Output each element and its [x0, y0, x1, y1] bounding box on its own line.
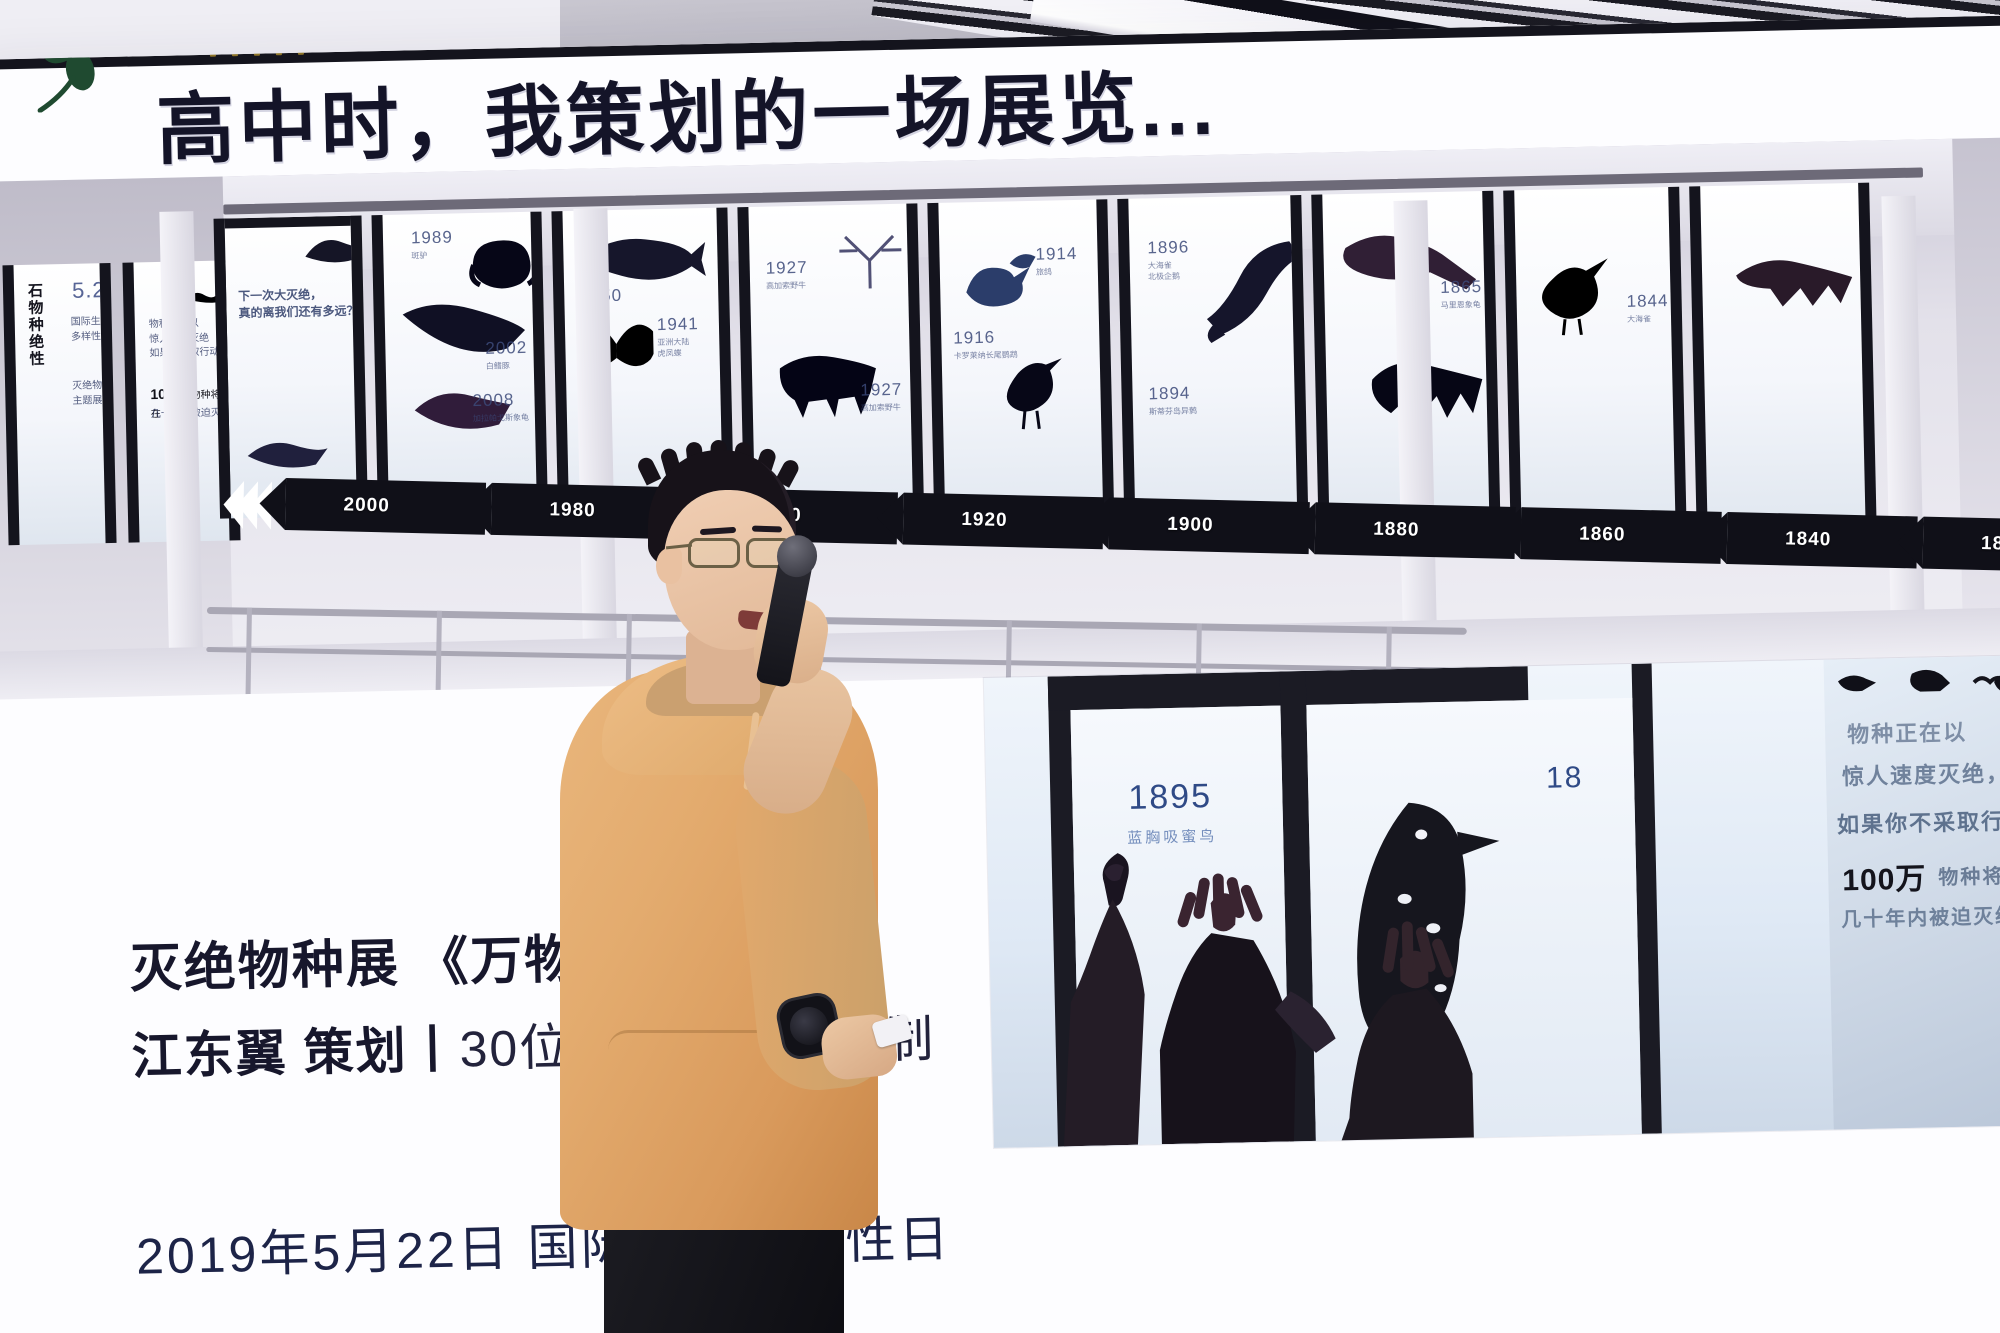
inset-photo: 1895 蓝胸吸蜜鸟 18: [984, 654, 2000, 1148]
exhibit-panel-6: 1896大海雀北极企鹅 1894斯蒂芬岛异鹩: [1117, 195, 1308, 539]
timeline-year: 1820: [1981, 533, 2000, 556]
screenshot-root: 高中时，我策划的一场展览... 石物种绝性 5.22 国际生物多样性日 灭绝物种…: [0, 0, 2000, 1333]
visitor-silhouette-right: [1319, 916, 1554, 1148]
exhibit-panel-2: 1989斑驴 2002白鳍豚 2008加拉帕戈斯象龟: [371, 212, 548, 526]
exhibition-photo: 石物种绝性 5.22 国际生物多样性日 灭绝物种主题展览 物种正在以惊人速度灭绝…: [0, 137, 2000, 702]
message-line-1: 物种正在以: [1847, 715, 1968, 750]
animal-illustration-icon: [243, 426, 330, 474]
glasses-lens-left: [688, 538, 740, 568]
message-line-4-tail: 物种将在: [1938, 859, 2000, 890]
timeline-year: 1900: [1167, 514, 1214, 537]
panel-year-1914: 1914旅鸽: [1035, 244, 1078, 278]
message-line-2: 惊人速度灭绝，: [1842, 756, 2000, 792]
speaker-figure: [560, 430, 890, 1333]
inset-second-year-label: 18: [1546, 761, 1584, 796]
panel-year-2002: 2002白鳍豚: [485, 338, 528, 372]
exhibit-panel-8: 1844大海雀: [1503, 187, 1687, 541]
panel-body-text: 国际生物多样性日: [71, 315, 117, 345]
caption-line-2-bold: 江东翼 策划丨: [131, 1022, 460, 1085]
message-line-5: 几十年内被迫灭绝: [1841, 900, 2000, 933]
message-line-3: 如果你不采取行动，: [1837, 803, 2000, 840]
timeline-segment: 1860: [1521, 507, 1722, 564]
panel-question-text: 下一次大灭绝，真的离我们还有多远？: [238, 286, 359, 323]
panel-year-1927-b: 1927高加索野牛: [860, 380, 903, 414]
message-100wan-highlight: 100万: [1842, 854, 1927, 900]
timeline-segment: 1820: [1922, 517, 2000, 573]
poster-panel-left-a: 石物种绝性 5.22 国际生物多样性日 灭绝物种主题展览: [2, 263, 116, 545]
antler-illustration-icon: [823, 225, 918, 293]
wading-bird-illustration-icon: [988, 346, 1074, 432]
panel-year-1927: 1927高加索野牛: [766, 258, 809, 292]
timeline-year: 2000: [343, 494, 390, 517]
inset-year-label: 1895: [1128, 777, 1212, 818]
exhibit-panel-9: [1689, 183, 1877, 541]
panel-year-1865: 1865马里恩象龟: [1440, 277, 1483, 311]
timeline-year: 1920: [961, 509, 1008, 532]
raptor-illustration-icon: [1195, 231, 1308, 351]
panel-body-text: 灭绝物种主题展览: [72, 379, 117, 409]
panel-year-1896: 1896大海雀北极企鹅: [1147, 237, 1190, 282]
panel-year-1941: 1941亚洲大陆虎凤蝶: [657, 314, 700, 359]
slide-caption-area: 灭绝物种展 《万物生长》 江东翼 策划丨30位插画师联合绘制 2019年5月22…: [0, 655, 2000, 1333]
inset-message-board: 物种正在以 惊人速度灭绝， 如果你不采取行动， 100万 物种将在 几十年内被迫…: [1824, 654, 2000, 1129]
panel-vertical-text: 石物种绝性: [24, 282, 47, 367]
panel-year-1894: 1894斯蒂芬岛异鹩: [1148, 383, 1197, 417]
timeline-segment: 1880: [1315, 502, 1516, 559]
frog-illustration-icon: [467, 234, 540, 292]
panel-year-1844: 1844大海雀: [1626, 291, 1669, 325]
exhibit-panel-5: 1914旅鸽 1916卡罗莱纳长尾鹦鹉: [927, 199, 1114, 539]
animal-illustration-icon: [299, 225, 368, 275]
timeline-year: 1880: [1373, 519, 1420, 542]
panel-year-1989: 1989斑驴: [411, 228, 454, 262]
panel-date-label: 5.22: [72, 277, 117, 304]
timeline-year: 1840: [1785, 528, 1832, 551]
speaker-eyebrow: [752, 525, 782, 532]
speaker-ear: [656, 548, 682, 584]
timeline-segment: 1900: [1109, 497, 1310, 554]
panel-year-2008: 2008加拉帕戈斯象龟: [472, 390, 529, 424]
crow-illustration-icon: [1530, 248, 1628, 336]
projection-screen: 高中时，我策划的一场展览... 石物种绝性 5.22 国际生物多样性日 灭绝物种…: [0, 15, 2000, 1333]
timeline-segment: 2000: [285, 478, 486, 535]
bird-flock-icon: [1964, 660, 2000, 722]
exhibit-panel-1: 下一次大灭绝，真的离我们还有多远？: [214, 215, 369, 518]
timeline-year: 1860: [1579, 523, 1626, 546]
timeline-segment: 1840: [1727, 512, 1918, 568]
mammal-illustration-icon-b: [1725, 243, 1861, 320]
timeline-segment: 1920: [903, 493, 1104, 550]
